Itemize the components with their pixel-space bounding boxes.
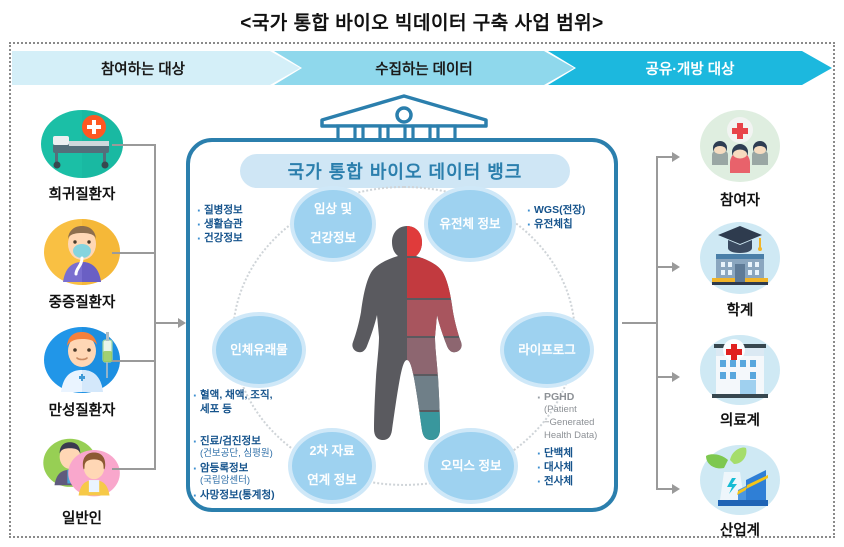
note-item: WGS(전장) bbox=[526, 203, 585, 217]
circle-line-2: 건강정보 bbox=[306, 231, 360, 246]
data-circle-clinical[interactable]: 임상 및 건강정보 bbox=[290, 186, 376, 262]
consumer-label: 학계 bbox=[727, 299, 754, 320]
notes-biospecimen: 혈액, 채액, 조직, 세포 등 bbox=[192, 388, 273, 416]
notes-lifelog: PGHD (Patient −Generated Health Data) bbox=[536, 390, 597, 442]
band-step-participants: 참여하는 대상 bbox=[12, 51, 300, 85]
participant-rare-disease: 희귀질환자 bbox=[18, 108, 146, 212]
note-item: 건강정보 bbox=[196, 231, 243, 245]
note-item: Health Data) bbox=[536, 430, 597, 443]
bank-building-icon bbox=[316, 92, 492, 144]
hospital-building-icon bbox=[694, 328, 786, 408]
data-circle-omics[interactable]: 오믹스 정보 bbox=[424, 428, 518, 504]
note-item: 대사체 bbox=[536, 460, 573, 474]
band-step-data: 수집하는 데이터 bbox=[274, 51, 574, 85]
bank-title: 국가 통합 바이오 데이터 뱅크 bbox=[240, 154, 570, 188]
note-item: 전사체 bbox=[536, 474, 573, 488]
industry-factory-icon bbox=[694, 438, 786, 518]
consumer-academia: 학계 bbox=[676, 218, 804, 322]
band-step-sharing: 공유·개방 대상 bbox=[548, 51, 832, 85]
data-circle-biospecimen[interactable]: 인체유래물 bbox=[212, 312, 306, 388]
participant-label: 만성질환자 bbox=[49, 399, 116, 420]
consumer-industry: 산업계 bbox=[676, 438, 804, 542]
consumer-label: 참여자 bbox=[720, 189, 760, 210]
participants-group-icon bbox=[694, 108, 786, 188]
page-title: <국가 통합 바이오 빅데이터 구축 사업 범위> bbox=[0, 8, 844, 35]
notes-clinical: 질병정보 생활습관 건강정보 bbox=[196, 203, 243, 245]
consumer-label: 산업계 bbox=[720, 519, 760, 540]
data-circle-secondary[interactable]: 2차 자료 연계 정보 bbox=[288, 428, 376, 504]
circle-line-1: 오믹스 정보 bbox=[437, 459, 506, 474]
note-item: 질병정보 bbox=[196, 203, 243, 217]
data-circle-genome[interactable]: 유전체 정보 bbox=[424, 186, 516, 262]
notes-genome: WGS(전장) 유전체칩 bbox=[526, 203, 585, 231]
band-step-label: 참여하는 대상 bbox=[101, 58, 185, 79]
data-circle-lifelog[interactable]: 라이프로그 bbox=[500, 312, 594, 388]
participant-label: 중증질환자 bbox=[49, 291, 116, 312]
process-band: 참여하는 대상 수집하는 데이터 공유·개방 대상 bbox=[12, 51, 832, 85]
circle-line-1: 라이프로그 bbox=[514, 343, 580, 358]
note-item: 생활습관 bbox=[196, 217, 243, 231]
infographic-root: <국가 통합 바이오 빅데이터 구축 사업 범위> 참여하는 대상 수집하는 데… bbox=[0, 0, 844, 547]
academia-building-icon bbox=[694, 218, 786, 298]
circle-line-1: 2차 자료 bbox=[303, 444, 360, 459]
circle-line-1: 인체유래물 bbox=[226, 343, 292, 358]
band-step-label: 공유·개방 대상 bbox=[646, 58, 735, 79]
note-item: (건보공단, 심평원) bbox=[192, 448, 275, 461]
consumer-label: 의료계 bbox=[720, 409, 760, 430]
consumer-participants: 참여자 bbox=[676, 108, 804, 212]
note-item: 혈액, 채액, 조직, bbox=[192, 388, 273, 402]
note-item: 단백체 bbox=[536, 446, 573, 460]
note-item: −Generated bbox=[536, 417, 597, 430]
note-item: 진료/검진정보 bbox=[192, 434, 275, 448]
circle-line-2: 연계 정보 bbox=[303, 473, 360, 488]
note-item: (Patient bbox=[536, 404, 597, 417]
participant-general-public: 일반인 bbox=[18, 432, 146, 536]
circle-line-1: 유전체 정보 bbox=[436, 217, 505, 232]
consumer-medical: 의료계 bbox=[676, 328, 804, 432]
participant-label: 희귀질환자 bbox=[49, 183, 116, 204]
note-item: (국립암센터) bbox=[192, 475, 275, 488]
notes-secondary: 진료/검진정보 (건보공단, 심평원) 암등록정보 (국립암센터) 사망정보(통… bbox=[192, 434, 275, 502]
circle-line-1: 임상 및 bbox=[306, 202, 360, 217]
band-step-label: 수집하는 데이터 bbox=[375, 58, 472, 79]
note-item: 유전체칩 bbox=[526, 217, 585, 231]
participant-chronic-disease: 만성질환자 bbox=[18, 324, 146, 428]
note-item: 암등록정보 bbox=[192, 461, 275, 475]
note-item: PGHD bbox=[536, 390, 597, 404]
note-item: 세포 등 bbox=[192, 402, 273, 416]
participant-severe-disease: 중증질환자 bbox=[18, 216, 146, 320]
notes-omics: 단백체 대사체 전사체 bbox=[536, 446, 573, 488]
note-item: 사망정보(통계청) bbox=[192, 488, 275, 502]
participant-label: 일반인 bbox=[62, 507, 102, 528]
